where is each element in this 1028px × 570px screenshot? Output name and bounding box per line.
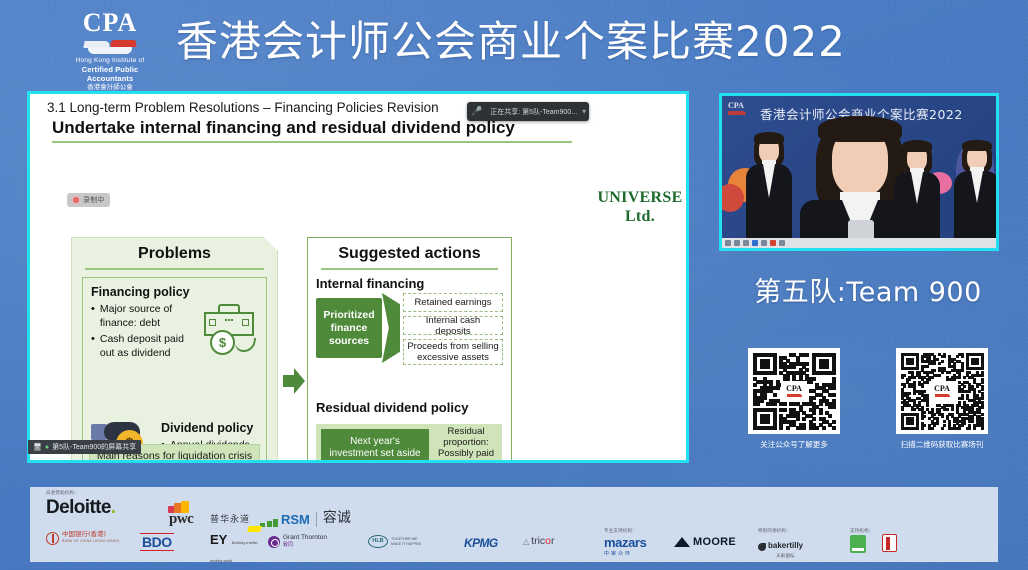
- screen-share-toolbar[interactable]: 🎤 正在共享: 第5队-Team900… ▾: [467, 102, 589, 121]
- share-status-text: 正在共享: 第5队-Team900…: [490, 107, 578, 117]
- problems-heading: Problems: [72, 238, 277, 263]
- qr-code-item-1[interactable]: CPA关注公众号了解更多: [748, 348, 840, 450]
- financing-source-item-2: Internal cash deposits: [403, 316, 503, 335]
- chevron-down-icon[interactable]: ▾: [582, 107, 586, 116]
- sponsor-logo-red: [882, 534, 897, 552]
- briefcase-money-icon: $: [200, 304, 258, 360]
- sponsor-logo-deloitte: Deloitte.: [46, 497, 116, 519]
- bullet-dot-icon: •: [91, 303, 95, 330]
- sponsor-logo-pwc: pwc: [169, 511, 193, 528]
- screen-share-status-bar: 🖥 ● 第5队-Team900的屏幕共享: [28, 440, 141, 454]
- sponsor-logo-pwc-cn: 普华永道: [210, 512, 250, 525]
- sponsor-hlb: HLBTOGETHER WEMAKE IT HAPPEN: [368, 535, 421, 548]
- monitor-icon: 🖥: [33, 443, 42, 451]
- qr-code-image[interactable]: CPA: [896, 348, 988, 434]
- sponsor-green-1: 支持机构：: [850, 528, 874, 553]
- wedge-connector-icon: [382, 293, 400, 363]
- sponsor-logo-grant-thornton: Grant Thornton致同: [268, 534, 327, 549]
- sponsor-logo-rsm: RSM容诚: [260, 507, 351, 527]
- dividend-policy-title: Dividend policy: [161, 421, 261, 435]
- sponsor-bakertilly-1: 特别鸣谢机构： bakertilly天职国际: [758, 528, 803, 559]
- company-logo: UNIVERSE Ltd.: [590, 188, 686, 226]
- internal-financing-title: Internal financing: [316, 276, 424, 291]
- sponsor-logo-hlb: HLBTOGETHER WEMAKE IT HAPPEN: [368, 535, 421, 548]
- microphone-muted-icon[interactable]: 🎤: [471, 107, 482, 116]
- presentation-slide: 3.1 Long-term Problem Resolutions – Fina…: [30, 94, 686, 460]
- company-name-line1: UNIVERSE: [590, 188, 686, 207]
- prioritized-finance-sources-block: Prioritized finance sources: [316, 298, 382, 358]
- share-status-label: 第5队-Team900的屏幕共享: [52, 442, 136, 452]
- sponsor-tricor: △tricor: [523, 535, 555, 547]
- suggested-divider: [321, 268, 498, 270]
- qr-code-image[interactable]: CPA: [748, 348, 840, 434]
- financing-policy-title: Financing policy: [91, 285, 201, 299]
- qr-center-cpa-logo-icon: CPA: [781, 381, 807, 401]
- recording-indicator: 录制中: [67, 193, 110, 207]
- participant-video-tile[interactable]: CPA 香港会计师公会商业个案比赛2022: [719, 93, 999, 251]
- recording-label: 录制中: [83, 195, 105, 205]
- financing-bullet-1: • Major source of finance: debt: [91, 303, 201, 330]
- sponsor-grant-thornton-1: Grant Thornton致同: [268, 534, 327, 549]
- problems-body: Financing policy • Major source of finan…: [82, 277, 267, 460]
- qr-code-row: CPA关注公众号了解更多CPA扫描二维码获取比赛场刊: [748, 348, 988, 450]
- sponsor-logo-green: [850, 535, 866, 553]
- financing-bullet-2: • Cash deposit paid out as dividend: [91, 333, 201, 360]
- bullet-dot-icon: •: [91, 333, 95, 360]
- shared-screen-frame: 3.1 Long-term Problem Resolutions – Fina…: [27, 91, 689, 463]
- sponsor-moore: MOORE: [674, 536, 736, 548]
- sponsor-logo-kpmg: KPMG: [464, 536, 498, 550]
- financing-source-item-1: Retained earnings: [403, 293, 503, 312]
- sponsor-logo-mazars: mazars中审众环: [604, 535, 646, 557]
- sponsor-bar: 白金赞助机构： Deloitte. pwc 普华永道 RSM容诚 中国银行(香港…: [30, 487, 998, 562]
- sponsor-logo-bdo: BDO: [140, 533, 174, 551]
- record-dot-icon: [72, 196, 80, 204]
- title-divider: [52, 141, 572, 143]
- next-year-investment-block: Next year's investment set aside: [321, 429, 429, 460]
- sponsor-rsm-1: RSM容诚: [260, 507, 351, 527]
- page-title: 香港会计师公会商业个案比赛2022: [176, 14, 846, 70]
- sponsor-logo-bakertilly: bakertilly天职国际: [758, 535, 803, 559]
- decor-blob-red: [719, 184, 744, 212]
- company-name-line2: Ltd.: [590, 207, 686, 226]
- video-taskbar: [722, 238, 996, 248]
- suggested-heading: Suggested actions: [308, 238, 511, 263]
- sponsor-logo-ey: EY Building a betterworking world: [210, 531, 258, 567]
- suggested-actions-panel: Suggested actions Internal financing Pri…: [307, 237, 512, 460]
- sponsor-ey: EY Building a betterworking world: [210, 531, 258, 567]
- sponsor-kicker: 特别鸣谢机构：: [758, 528, 803, 534]
- sponsor-kicker: 专业支持机构：: [604, 528, 646, 534]
- sponsor-mazars-1: 专业支持机构： mazars中审众环: [604, 528, 646, 557]
- cpa-logo-wordmark: CPA: [62, 10, 158, 36]
- cpa-logo-line2: Certified Public Accountants: [62, 65, 158, 83]
- video-cpa-watermark-icon: CPA: [728, 102, 760, 120]
- right-arrow-icon: [283, 368, 305, 394]
- qr-code-caption: 关注公众号了解更多: [748, 439, 840, 450]
- financing-source-item-3: Proceeds from selling excessive assets: [403, 339, 503, 365]
- sponsor-pwc-cn: 普华永道: [210, 512, 250, 525]
- qr-code-caption: 扫描二维码获取比赛场刊: [896, 439, 988, 450]
- sponsor-bdo: BDO: [140, 533, 174, 551]
- residual-dividend-diagram: Next year's investment set aside Residua…: [316, 424, 502, 460]
- cpa-logo: CPA Hong Kong Institute of Certified Pub…: [62, 10, 158, 92]
- sponsor-kicker: 支持机构：: [850, 528, 874, 534]
- sponsor-deloitte-1: 白金赞助机构： Deloitte.: [46, 490, 116, 519]
- slide-title: Undertake internal financing and residua…: [52, 118, 515, 138]
- team-name-label: 第五队:Team 900: [748, 270, 988, 309]
- problems-panel: Problems Financing policy • Major source…: [71, 237, 278, 460]
- cpa-logo-line1: Hong Kong Institute of: [62, 57, 158, 65]
- residual-dividend-title: Residual dividend policy: [316, 400, 468, 415]
- sponsor-logo-boc: 中国银行(香港)BANK OF CHINA (HONG KONG): [46, 531, 120, 545]
- problems-divider: [85, 268, 264, 270]
- sponsor-kpmg: KPMG: [464, 536, 498, 550]
- qr-code-item-2[interactable]: CPA扫描二维码获取比赛场刊: [896, 348, 988, 450]
- residual-proportion-block: Residual proportion: Possibly paid as di…: [432, 426, 500, 460]
- sponsor-logo-tricor: △tricor: [523, 535, 555, 547]
- sponsor-boc: 中国银行(香港)BANK OF CHINA (HONG KONG): [46, 531, 120, 545]
- sponsor-kicker: 白金赞助机构：: [46, 490, 116, 496]
- qr-center-cpa-logo-icon: CPA: [929, 381, 955, 401]
- sponsor-logo-moore: MOORE: [674, 536, 736, 548]
- page-header: CPA Hong Kong Institute of Certified Pub…: [0, 0, 1028, 86]
- person-icon: ●: [45, 444, 49, 451]
- cpa-bird-logo-icon: [82, 37, 138, 55]
- sponsor-red-1: [882, 534, 897, 552]
- slide-eyebrow: 3.1 Long-term Problem Resolutions – Fina…: [47, 100, 439, 115]
